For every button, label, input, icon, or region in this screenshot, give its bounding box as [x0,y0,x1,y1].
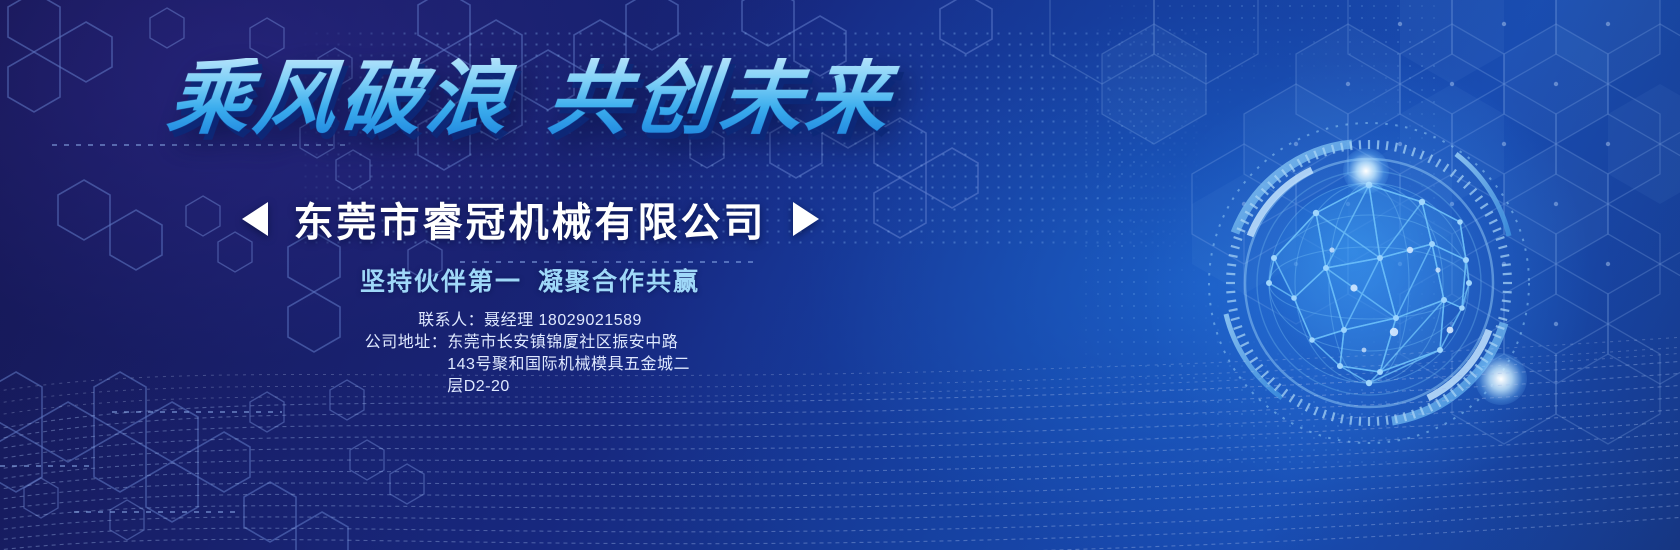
page-title: 乘风破浪共创未来 [0,58,1064,140]
company-address-value: 东莞市长安镇锦厦社区振安中路143号聚和国际机械模具五金城二层D2-20 [447,332,695,398]
tagline: 坚持伙伴第一凝聚合作共赢 [0,262,1060,298]
company-address-row: 公司地址： 东莞市长安镇锦厦社区振安中路143号聚和国际机械模具五金城二层D2-… [0,332,1060,398]
headline-part-2: 共创未来 [543,53,897,144]
contact-person-label: 联系人： [418,310,484,332]
triangle-right-icon [793,202,819,236]
triangle-left-icon [242,202,268,236]
promo-banner: 乘风破浪共创未来 东莞市睿冠机械有限公司 坚持伙伴第一凝聚合作共赢 联系人： 聂… [0,0,1680,550]
contact-info: 联系人： 聂经理 18029021589 公司地址： 东莞市长安镇锦厦社区振安中… [0,310,1060,398]
tagline-part-2: 凝聚合作共赢 [538,268,700,296]
company-name: 东莞市睿冠机械有限公司 [294,190,767,248]
contact-person-value: 聂经理 18029021589 [484,310,642,332]
headline-part-1: 乘风破浪 [163,53,517,144]
company-name-bar: 东莞市睿冠机械有限公司 [0,190,1060,248]
tagline-part-1: 坚持伙伴第一 [360,268,522,296]
contact-person-row: 联系人： 聂经理 18029021589 [0,310,1060,332]
company-address-label: 公司地址： [365,332,448,354]
banner-content: 乘风破浪共创未来 东莞市睿冠机械有限公司 坚持伙伴第一凝聚合作共赢 联系人： 聂… [0,0,1060,550]
